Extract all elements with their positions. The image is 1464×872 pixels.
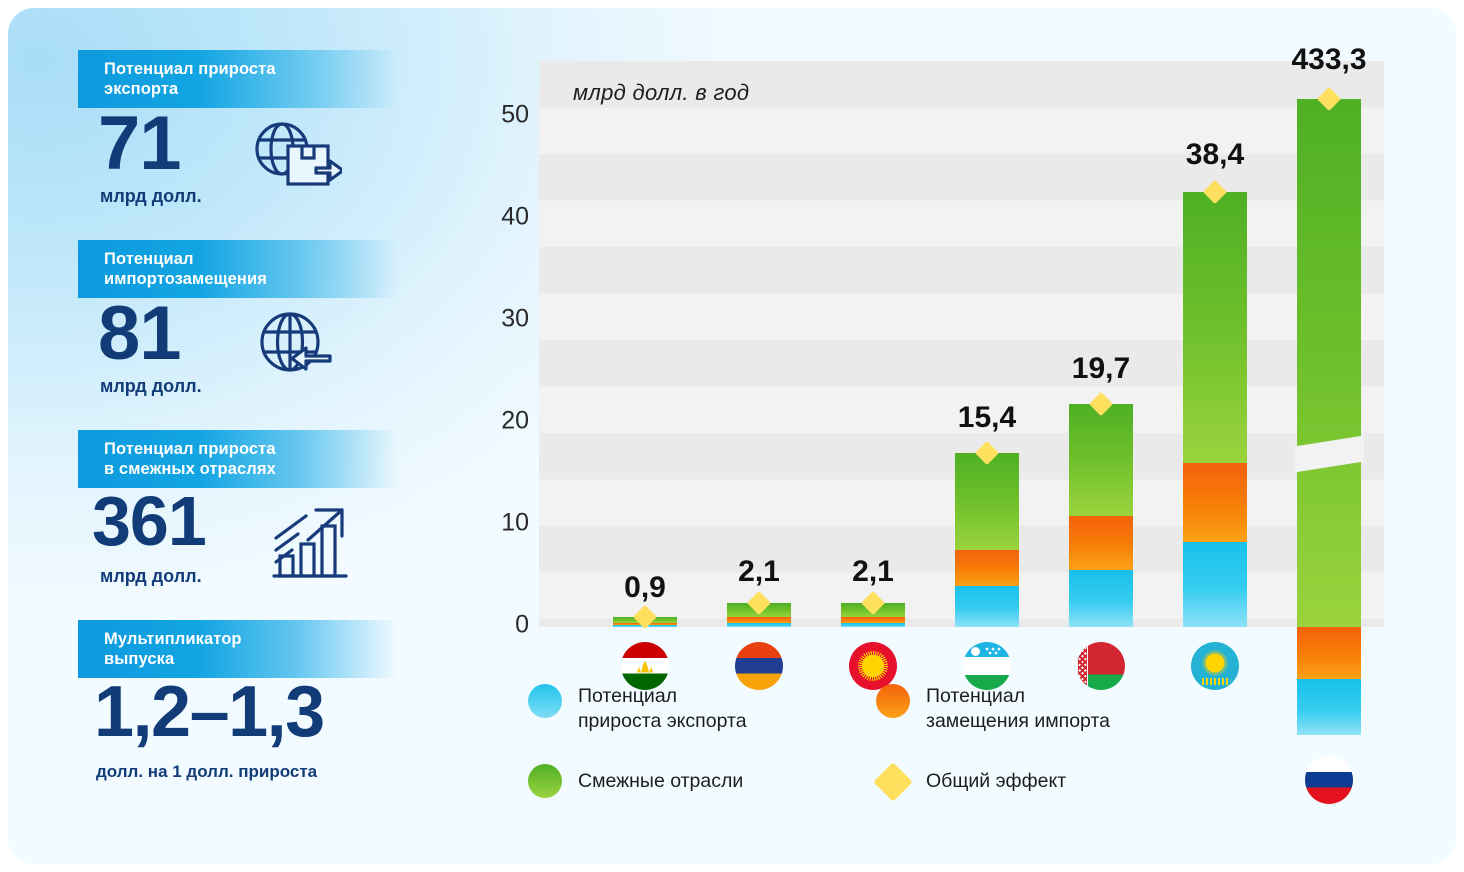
bar-belarus[interactable]: 19,7 [1069,404,1133,627]
bar-total-label: 2,1 [852,555,894,589]
legend-marker-circle-orange [876,684,910,718]
segment-adjacent [1069,404,1133,516]
stat-value: 361 [92,486,206,556]
belarus-flag [1077,642,1125,690]
globe-arrow-import-icon [250,304,336,388]
segment-export [1297,679,1361,735]
segment-export [955,586,1019,627]
y-tick-10: 10 [501,509,529,538]
stat-title: Потенциал прироста экспорта [104,59,276,99]
bar-total-label: 38,4 [1186,138,1244,172]
y-axis: 50 40 30 20 10 0 [473,58,535,630]
bar-tajikistan[interactable]: 0,9 [613,617,677,627]
legend-marker-diamond-yellow [873,762,913,802]
stat-body: 71 млрд долл. [78,108,398,224]
y-tick-0: 0 [515,611,529,640]
bar-russia-below-axis[interactable] [1297,627,1361,735]
y-tick-50: 50 [501,101,529,130]
globe-package-export-icon [246,116,342,202]
legend-label: Смежные отрасли [578,764,743,794]
segment-import [955,550,1019,586]
segment-export [727,623,791,628]
infographic-card: Потенциал прироста экспорта 71 млрд долл… [8,8,1456,864]
bar-total-label: 433,3 [1291,43,1366,77]
stat-card-output-multiplier: Мультипликатор выпуска 1,2–1,3 долл. на … [78,620,398,788]
segment-export [1183,542,1247,627]
legend-label: Общий эффект [926,764,1066,794]
bar-uzbekistan[interactable]: 15,4 [955,453,1019,627]
legend-item-import[interactable]: Потенциал замещения импорта [876,684,1206,734]
legend-item-export[interactable]: Потенциал прироста экспорта [528,684,828,734]
y-tick-30: 30 [501,305,529,334]
stat-card-export-potential: Потенциал прироста экспорта 71 млрд долл… [78,50,398,224]
stat-value: 1,2–1,3 [94,676,324,748]
legend-label: Потенциал замещения импорта [926,684,1110,734]
kyrgyzstan-flag [849,642,897,690]
stat-unit: долл. на 1 долл. прироста [96,762,317,782]
segment-adjacent [955,453,1019,550]
segment-import [1069,516,1133,570]
bar-kyrgyzstan[interactable]: 2,1 [841,603,905,627]
bar-total-label: 2,1 [738,555,780,589]
stat-body: 1,2–1,3 долл. на 1 долл. прироста [78,678,398,788]
legend-item-adjacent[interactable]: Смежные отрасли [528,764,828,798]
bar-total-label: 0,9 [624,571,666,605]
stat-unit: млрд долл. [100,376,202,397]
stat-body: 361 млрд долл. [78,488,398,604]
kazakhstan-flag [1191,642,1239,690]
stat-title: Потенциал прироста в смежных отраслях [104,439,276,479]
segment-adjacent [1297,99,1361,627]
legend-marker-circle-green [528,764,562,798]
stat-card-import-substitution: Потенциал импортозамещения 81 млрд долл. [78,240,398,414]
stat-card-header: Потенциал прироста экспорта [78,50,398,108]
segment-adjacent [1183,192,1247,463]
segment-import [1183,463,1247,542]
stat-title: Потенциал импортозамещения [104,249,267,289]
bar-russia[interactable]: 433,3 [1297,99,1361,627]
stat-card-header: Потенциал прироста в смежных отраслях [78,430,398,488]
bar-armenia[interactable]: 2,1 [727,603,791,627]
stat-card-header: Потенциал импортозамещения [78,240,398,298]
segment-export [841,623,905,628]
stat-card-header: Мультипликатор выпуска [78,620,398,678]
stat-unit: млрд долл. [100,566,202,587]
bar-chart-arrow-up-icon [268,504,352,584]
bar-kazakhstan[interactable]: 38,4 [1183,192,1247,627]
bar-group: 0,9 2,1 2,1 [539,61,1384,627]
stacked-bar-chart: млрд долл. в год 50 40 30 20 10 0 0,9 [473,58,1433,698]
armenia-flag [735,642,783,690]
stat-value: 71 [98,106,181,182]
bar-total-label: 19,7 [1072,352,1130,386]
tajikistan-flag [621,642,669,690]
uzbekistan-flag [963,642,1011,690]
stat-unit: млрд долл. [100,186,202,207]
legend-marker-circle-blue [528,684,562,718]
stats-sidebar: Потенциал прироста экспорта 71 млрд долл… [78,50,398,804]
segment-import [1297,627,1361,679]
stat-value: 81 [98,296,181,372]
y-tick-40: 40 [501,203,529,232]
segment-export [1069,570,1133,627]
bar-total-label: 15,4 [958,401,1016,435]
stat-body: 81 млрд долл. [78,298,398,414]
legend-label: Потенциал прироста экспорта [578,684,747,734]
stat-card-adjacent-industries: Потенциал прироста в смежных отраслях 36… [78,430,398,604]
legend-item-total[interactable]: Общий эффект [876,764,1206,796]
stat-title: Мультипликатор выпуска [104,629,242,669]
chart-axis-unit-title: млрд долл. в год [573,80,749,106]
y-tick-20: 20 [501,407,529,436]
russia-flag [1305,756,1353,804]
